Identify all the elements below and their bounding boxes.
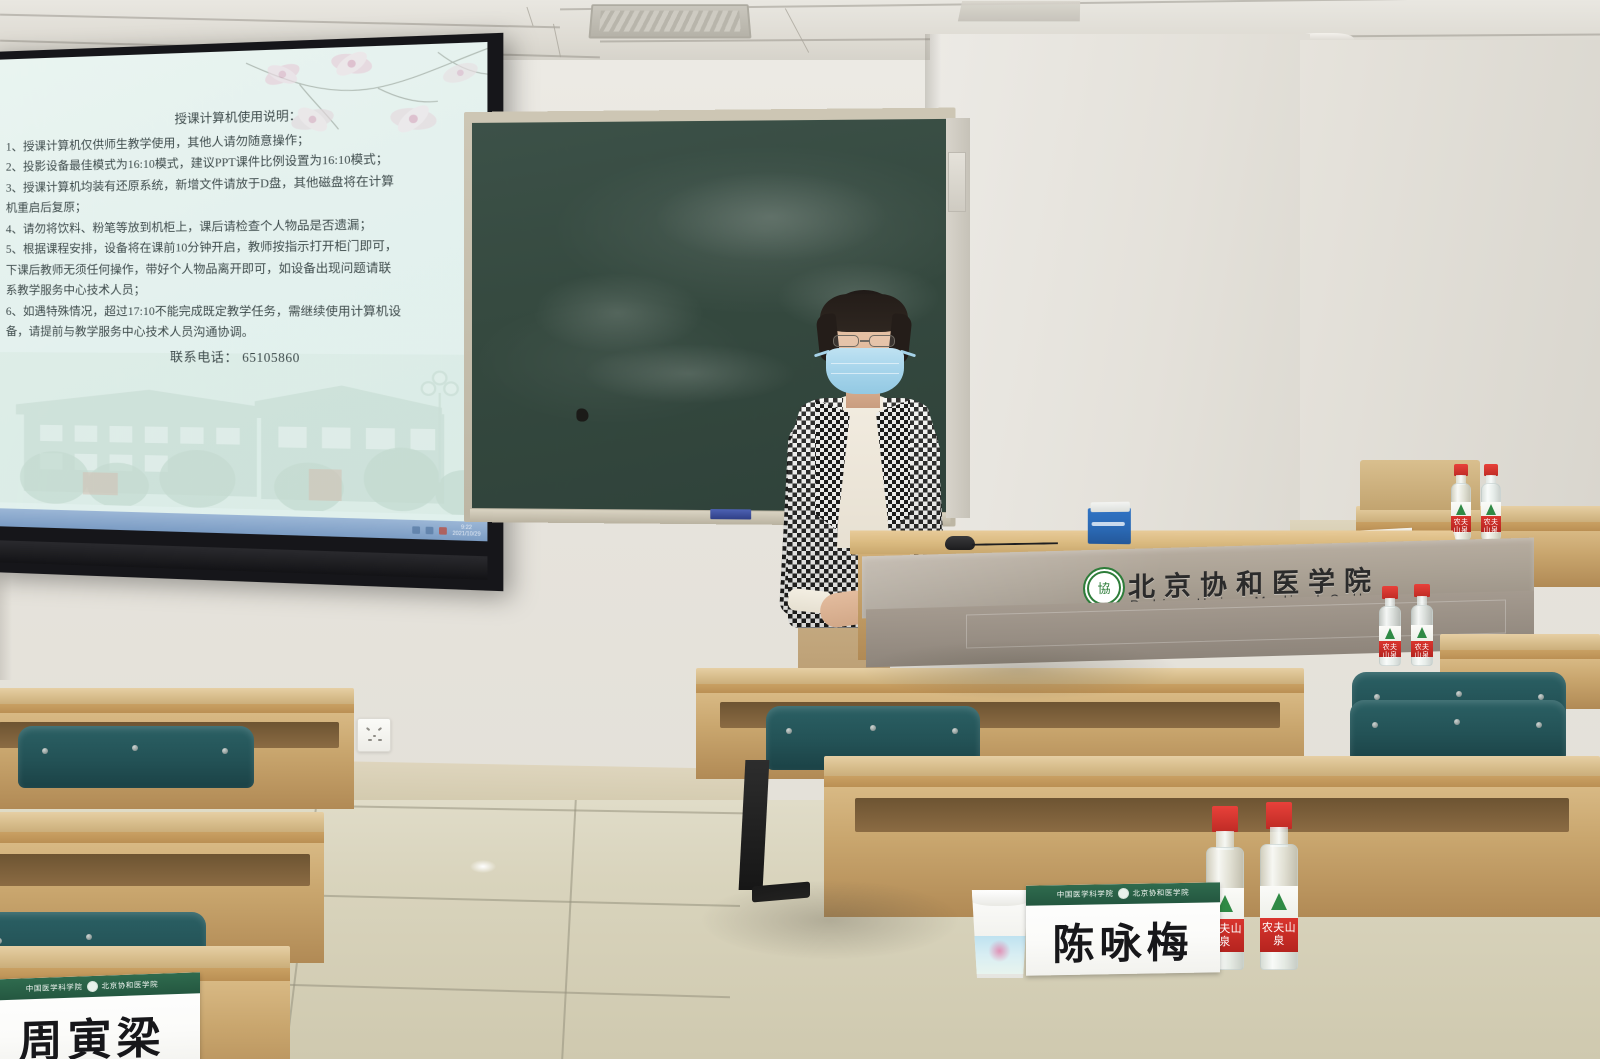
chair-left-row-1[interactable] [18,726,254,788]
pumc-seal-glyph: 協 [1097,581,1110,594]
slide-line-7: 下课后教师无须任何操作，带好个人物品离开即可，如设备出现问题请联 [6,257,479,281]
nameplate-header-cn-right: 北京协和医学院 [102,979,159,992]
slide-line-8: 系教学服务中心技术人员； [6,279,479,302]
tissue-box[interactable] [1088,508,1131,545]
nameplate-chen-yongmei[interactable]: 中国医学科学院 北京协和医学院 陈咏梅 [1026,882,1220,975]
nameplate-zhou-yinliang[interactable]: 中国医学科学院 北京协和医学院 周寅梁 [0,972,200,1059]
tray-network-icon[interactable] [412,526,420,534]
water-bottle[interactable]: 农夫山泉 [1410,584,1434,666]
screen-bottom-bar [0,540,487,580]
blackboard-mark [576,408,588,421]
nameplate-header-cn-left: 中国医学科学院 [26,981,83,994]
nameplate-name: 陈咏梅 [1026,906,1220,976]
paper-cup[interactable] [968,890,1032,978]
wall-speaker [948,152,966,212]
surgical-face-mask [826,348,904,394]
ceiling-air-vent [588,4,751,38]
nameplate-header-cn-right: 北京协和医学院 [1133,887,1190,899]
ceiling-air-vent-secondary [958,1,1080,21]
nameplate-seal-icon [87,981,98,992]
slide-phone-label: 联系电话： [170,349,238,364]
nameplate-header-cn-left: 中国医学科学院 [1057,889,1114,901]
chalkboard-eraser[interactable] [710,509,751,519]
right-wall-column [930,34,1310,554]
tray-volume-icon[interactable] [426,526,434,534]
water-bottle[interactable]: 农夫山泉 [1258,802,1300,970]
projection-screen-surface: 授课计算机使用说明： 1、授课计算机仅供师生教学使用，其他人请勿随意操作； 2、… [0,42,487,541]
water-bottle[interactable]: 农夫山泉 [1480,464,1502,540]
water-bottle[interactable]: 农夫山泉 [1378,586,1402,666]
wall-power-outlet[interactable] [357,718,391,752]
slide-contact-phone: 联系电话： 65105860 [6,346,479,370]
slide-phone-number: 65105860 [242,350,300,365]
slide-campus-photo [0,352,487,516]
chair-row-1-right[interactable] [1350,700,1566,762]
slide-text-block: 授课计算机使用说明： 1、授课计算机仅供师生教学使用，其他人请勿随意操作； 2、… [6,100,479,370]
slide-line-9: 6、如遇特殊情况，超过17:10不能完成既定教学任务，需继续使用计算机设 [6,301,479,323]
tray-alert-icon[interactable] [439,527,447,535]
taskbar-clock[interactable]: 9:22 2021/10/29 [452,524,480,538]
right-far-wall [1300,40,1600,520]
eyeglasses-icon [832,335,896,347]
computer-mouse[interactable] [945,536,975,550]
water-bottle[interactable]: 农夫山泉 [1450,464,1472,540]
projection-screen: 授课计算机使用说明： 1、授课计算机仅供师生教学使用，其他人请勿随意操作； 2、… [0,33,503,591]
nameplate-header: 中国医学科学院 北京协和医学院 [1026,882,1220,905]
nameplate-name: 周寅梁 [0,997,200,1059]
nameplate-seal-icon [1118,888,1129,899]
classroom-scene: 授课计算机使用说明： 1、授课计算机仅供师生教学使用，其他人请勿随意操作； 2、… [0,0,1600,1059]
slide-line-10: 备，请提前与教学服务中心技术人员沟通协调。 [6,322,479,345]
